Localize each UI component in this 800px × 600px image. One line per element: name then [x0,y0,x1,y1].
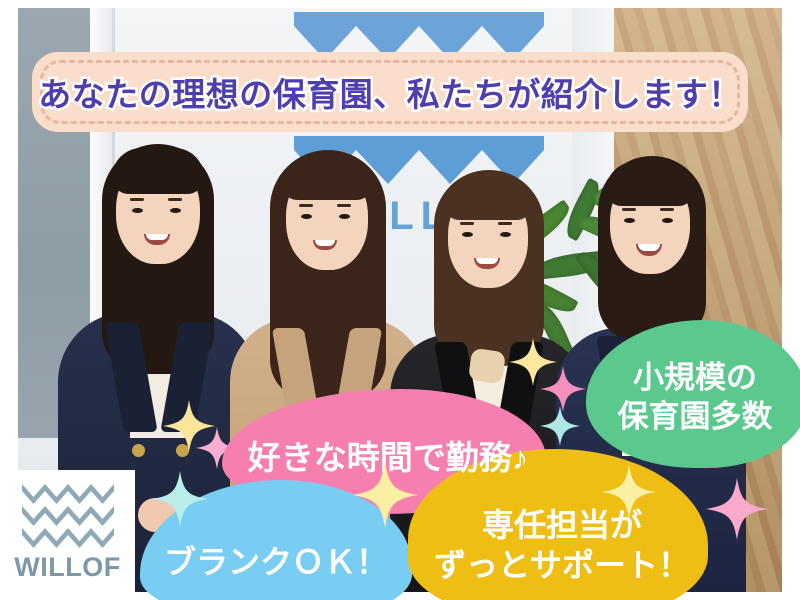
headline-text: あなたの理想の保育園、私たちが紹介します！ [32,52,748,132]
person-1-eye [132,208,143,213]
person-3-teeth [476,258,498,264]
person-3-eye [500,232,511,237]
blob-blue-label: ブランクＯＫ！ [164,542,388,582]
ad-banner: WILLOF [0,0,800,600]
person-1-eye [170,208,181,213]
person-1-brow [168,198,182,201]
blob-yellow-label: 専任担当が ずっとサポート！ [434,505,690,585]
person-1-button [132,444,145,457]
person-3-brow [460,222,474,225]
person-2-eye [339,214,350,219]
willof-wordmark: WILLOF [0,552,135,583]
person-1-button [176,444,189,457]
blob-green-label: 小規模の 保育園多数 [618,359,773,437]
person-4-eye [662,218,673,223]
person-2-bangs [282,156,372,200]
person-4-brow [660,208,674,211]
willof-zigzag-icon [22,484,114,548]
person-1-bangs [112,148,204,194]
person-2-teeth [315,240,335,246]
person-3-scarf [468,348,506,384]
person-2-brow [337,204,351,207]
person-2-eye [301,214,312,219]
person-4-teeth [638,244,660,251]
person-4-bangs [606,162,694,206]
person-4-eye [624,218,635,223]
person-3-bangs [444,176,532,220]
person-1-brow [130,198,144,201]
headline-banner: あなたの理想の保育園、私たちが紹介します！ [32,52,748,132]
person-3-brow [498,222,512,225]
person-1-teeth [146,234,168,240]
person-3-eye [462,232,473,237]
person-2-brow [299,204,313,207]
willof-logo-card[interactable]: WILLOF [0,470,135,600]
person-4-brow [622,208,636,211]
blob-pink-label: 好きな時間で勤務♪ [248,437,529,478]
